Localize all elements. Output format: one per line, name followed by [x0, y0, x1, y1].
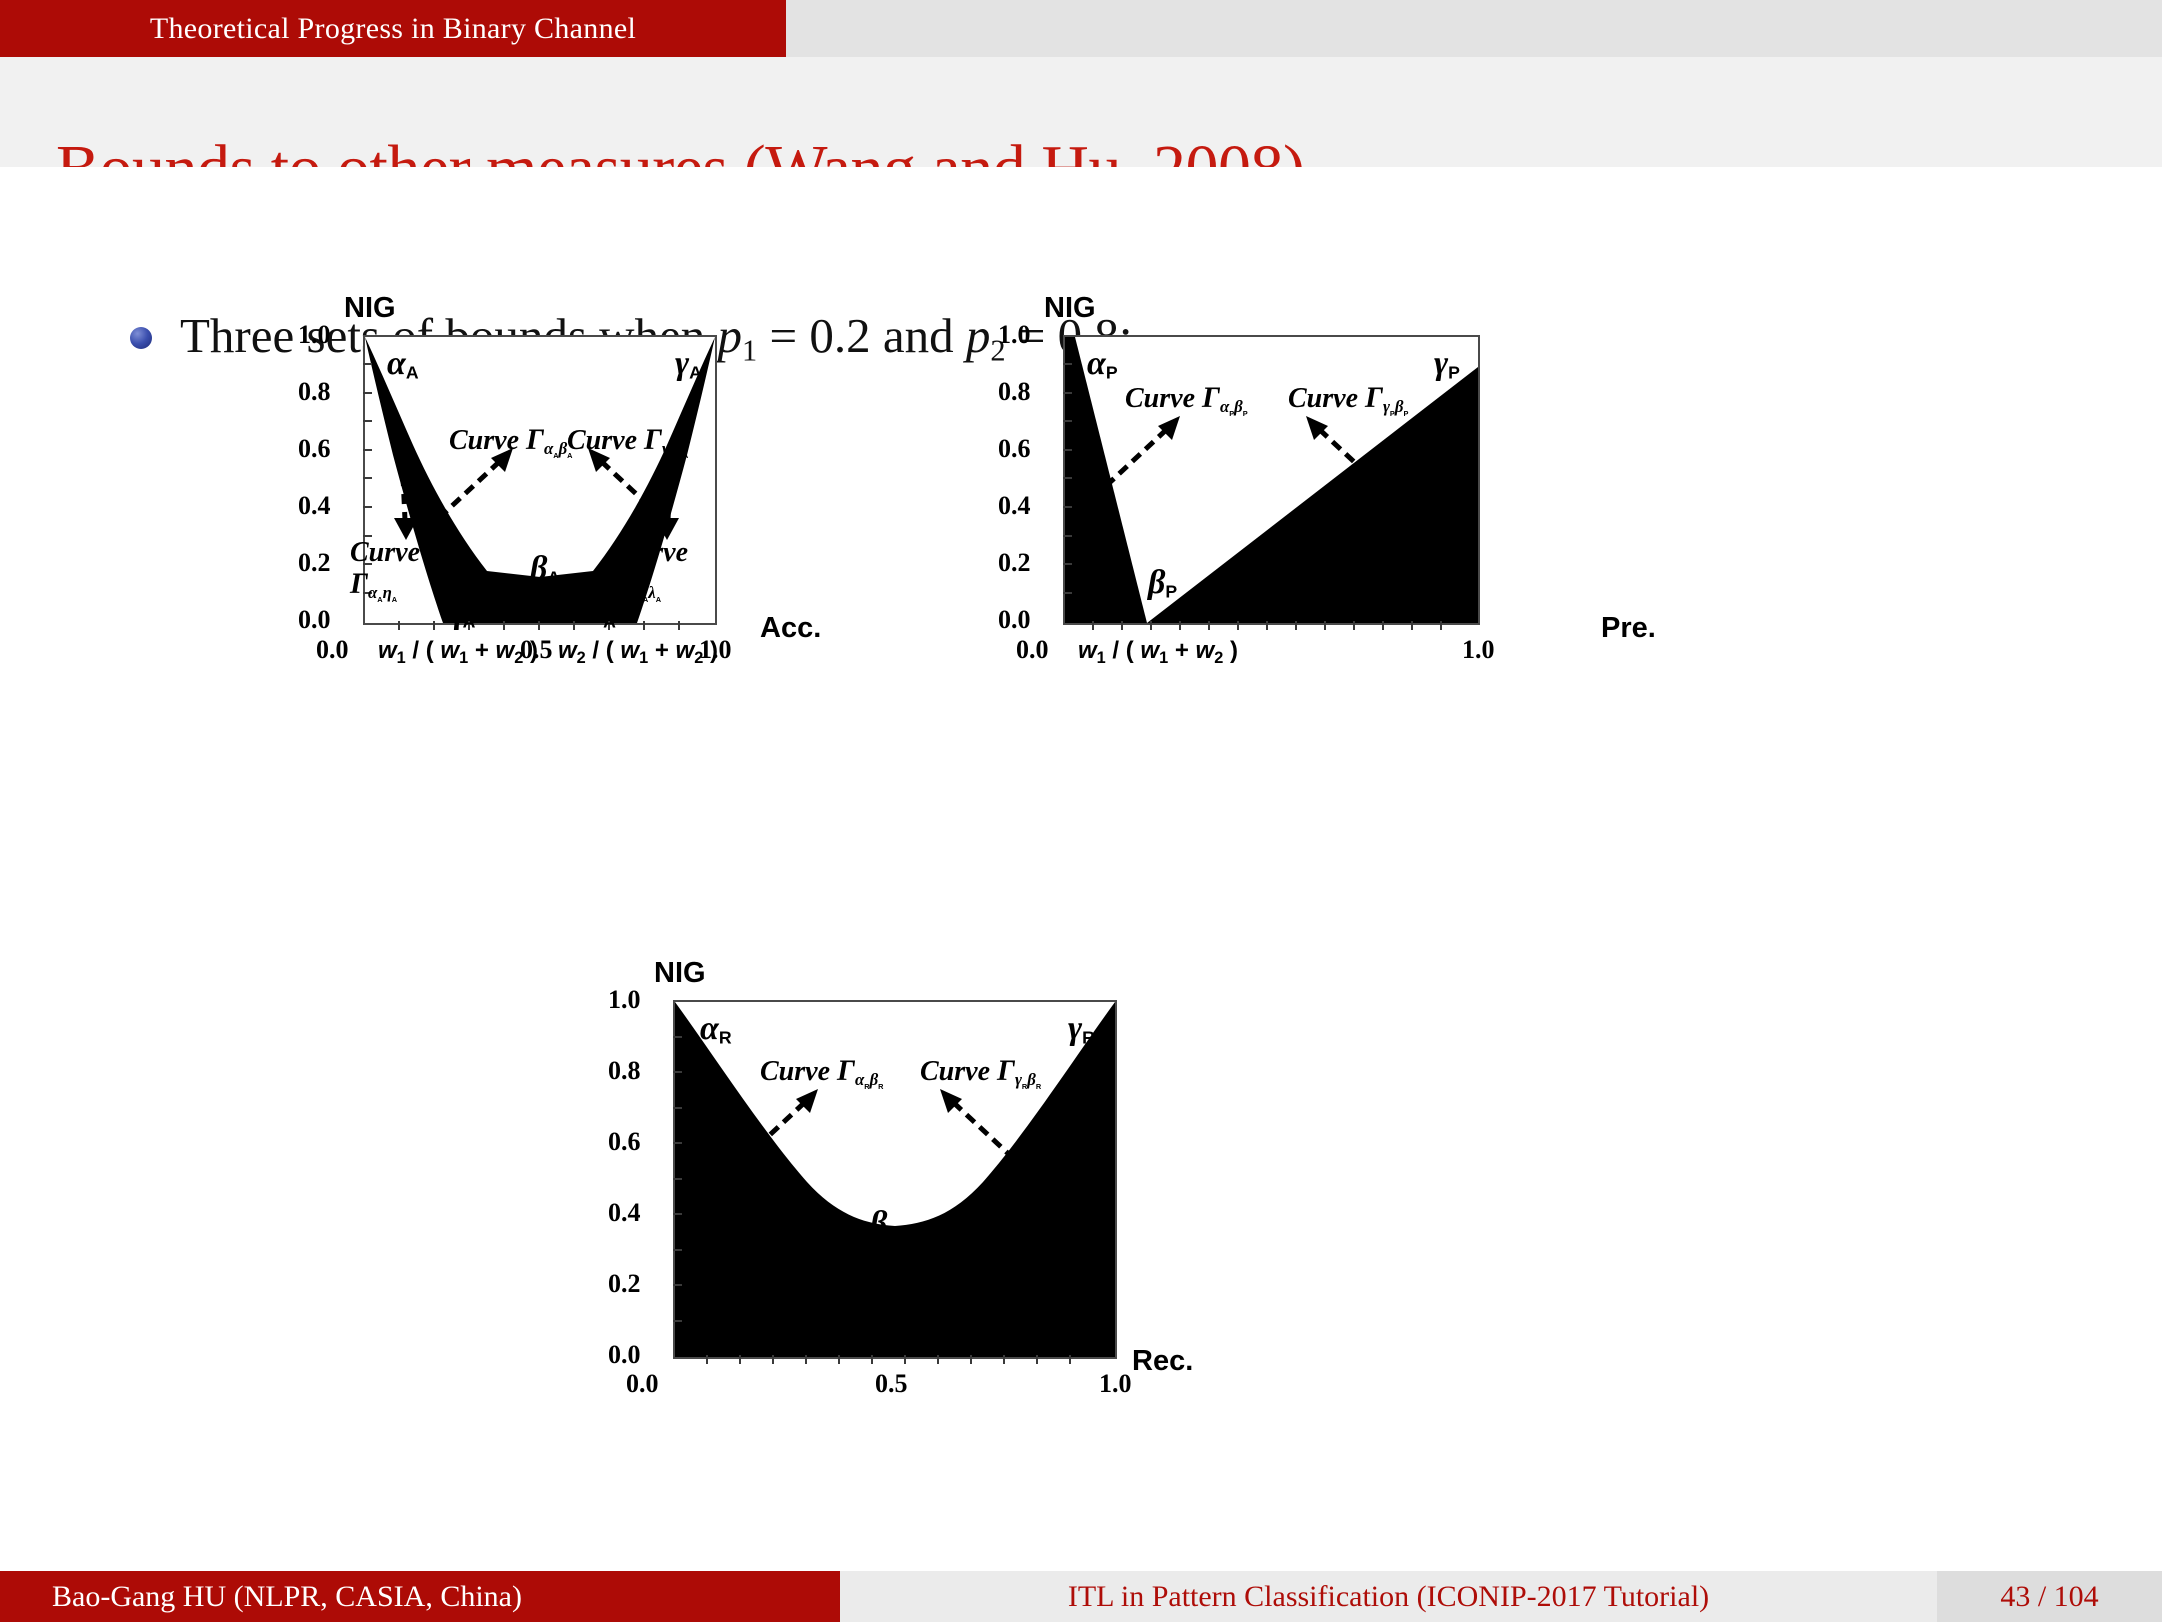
figure-recall-ytick-6: 0.0 [608, 1340, 641, 1370]
section-tab[interactable]: Theoretical Progress in Binary Channel [0, 0, 786, 57]
tick [673, 1213, 682, 1215]
footer-course-block: ITL in Pattern Classification (ICONIP-20… [840, 1571, 1937, 1622]
figure-precision-arrow-ab [1102, 410, 1192, 490]
figure-recall-ytick-3: 0.6 [608, 1127, 641, 1157]
figure-precision-ytick-1: 1.0 [998, 320, 1031, 350]
bullet-dot-icon [130, 327, 152, 349]
tick [1036, 1355, 1038, 1364]
figure-precision-ytick-5: 0.2 [998, 548, 1031, 578]
figure-precision-xfrac-left: w1 / ( w1 + w2 ) [1078, 637, 1238, 668]
figure-precision-ytick-3: 0.6 [998, 434, 1031, 464]
figure-accuracy-xtick-1: 0.0 [316, 635, 349, 665]
figure-accuracy-arrow-gl [648, 474, 688, 544]
tick [538, 621, 540, 630]
tick [673, 1142, 682, 1144]
tick [398, 621, 400, 630]
tick [1063, 563, 1072, 565]
tick [1411, 621, 1413, 630]
footer-author-block: Bao-Gang HU (NLPR, CASIA, China) [0, 1571, 840, 1622]
tick [805, 1355, 807, 1364]
figure-accuracy-ylabel: NIG [344, 292, 396, 325]
tick [1063, 592, 1072, 594]
figure-recall-fill [675, 1002, 1115, 1357]
figure-accuracy-ytick-4: 0.4 [298, 491, 331, 521]
figure-recall-xtick-1: 0.0 [626, 1369, 659, 1399]
tick [363, 392, 372, 394]
tick [1266, 621, 1268, 630]
figure-accuracy: NIG 1.0 0.8 0.6 0.4 0.2 0.0 [330, 292, 1050, 692]
tick [1295, 621, 1297, 630]
tick [673, 1284, 682, 1286]
figure-recall-ytick-4: 0.4 [608, 1198, 641, 1228]
figure-accuracy-curve-ae-label: CurveΓαAηA [350, 538, 420, 604]
tick [1092, 621, 1094, 630]
tick [1063, 363, 1072, 365]
tick [363, 363, 372, 365]
figure-precision-xlabel: Pre. [1601, 612, 1656, 645]
tick [363, 477, 372, 479]
figure-recall-ytick-5: 0.2 [608, 1269, 641, 1299]
tick [1382, 621, 1384, 630]
figure-accuracy-alpha-label: αA [387, 345, 419, 383]
tick [1063, 477, 1072, 479]
footer-course: ITL in Pattern Classification (ICONIP-20… [1068, 1580, 1709, 1614]
figure-precision-arrow-gb [1294, 410, 1384, 490]
tick [433, 621, 435, 630]
title-band: Bounds to other measures (Wang and Hu, 2… [0, 57, 2162, 167]
tick [673, 1036, 682, 1038]
tick [706, 1355, 708, 1364]
section-tab-label: Theoretical Progress in Binary Channel [150, 12, 636, 46]
tick [1063, 449, 1072, 451]
tick [643, 621, 645, 630]
tick [772, 1355, 774, 1364]
figure-recall-alpha-label: αR [700, 1010, 732, 1048]
figure-accuracy-arrow-ab [435, 442, 525, 522]
figure-accuracy-ytick-1: 1.0 [298, 320, 331, 350]
tick [363, 449, 372, 451]
figure-precision-xtick-2: 1.0 [1462, 635, 1495, 665]
tick [1237, 621, 1239, 630]
tick [1063, 420, 1072, 422]
footer-page-number: 43 / 104 [2000, 1580, 2098, 1614]
figure-precision-alpha-label: αP [1087, 345, 1118, 383]
slide-body: Three sets of bounds when p1 = 0.2 and p… [0, 167, 2162, 1555]
figure-recall-arrow-gb [928, 1083, 1018, 1163]
header-bar: Theoretical Progress in Binary Channel [0, 0, 2162, 57]
figure-accuracy-beta-label: βA [530, 550, 560, 588]
figure-accuracy-ytick-5: 0.2 [298, 548, 331, 578]
figure-accuracy-ytick-2: 0.8 [298, 377, 331, 407]
figure-accuracy-arrow-ae [385, 474, 425, 544]
figure-precision-ytick-2: 0.8 [998, 377, 1031, 407]
figure-precision: NIG 1.0 0.8 0.6 0.4 0.2 0.0 [1030, 292, 1750, 692]
tick [363, 506, 372, 508]
figure-recall-plot [673, 1000, 1117, 1359]
figure-accuracy-xlabel: Acc. [760, 612, 821, 645]
figure-accuracy-curve-gl-label: CurveΓγAλA [618, 538, 688, 604]
tick [1324, 621, 1326, 630]
tick [904, 1355, 906, 1364]
figure-precision-beta-label: βP [1148, 564, 1177, 602]
tick [673, 1071, 682, 1073]
tick [1179, 621, 1181, 630]
tick [1063, 392, 1072, 394]
footer-page-block: 43 / 104 [1937, 1571, 2162, 1622]
figure-recall-xtick-3: 1.0 [1099, 1369, 1132, 1399]
figure-accuracy-xfrac-left: w1 / ( w1 + w2 ) [378, 637, 538, 668]
figure-recall-beta-label: βR [870, 1205, 900, 1243]
tick [1440, 621, 1442, 630]
tick [1208, 621, 1210, 630]
tick [838, 1355, 840, 1364]
figure-accuracy-gamma-label: γA [675, 345, 702, 383]
figure-precision-ytick-6: 0.0 [998, 605, 1031, 635]
tick [739, 1355, 741, 1364]
figure-accuracy-lambda-label: λA [588, 594, 616, 632]
figure-recall-xlabel: Rec. [1132, 1345, 1193, 1378]
tick [1003, 1355, 1005, 1364]
tick [871, 1355, 873, 1364]
figure-recall-gamma-label: γR [1068, 1010, 1095, 1048]
figure-accuracy-eta-label: ηA [444, 594, 475, 632]
tick [573, 621, 575, 630]
tick [503, 621, 505, 630]
tick [1069, 1355, 1071, 1364]
figure-accuracy-xfrac-right: w2 / ( w1 + w2 ) [558, 637, 718, 668]
figure-recall-arrow-ab [740, 1083, 830, 1163]
figure-precision-gamma-label: γP [1434, 345, 1460, 383]
footer-bar: Bao-Gang HU (NLPR, CASIA, China) ITL in … [0, 1571, 2162, 1622]
tick [1121, 621, 1123, 630]
figure-recall-ytick-1: 1.0 [608, 985, 641, 1015]
figure-accuracy-ytick-3: 0.6 [298, 434, 331, 464]
tick [1063, 506, 1072, 508]
figure-precision-xtick-1: 0.0 [1016, 635, 1049, 665]
tick [937, 1355, 939, 1364]
tick [673, 1178, 682, 1180]
tick [678, 621, 680, 630]
figure-recall-ytick-2: 0.8 [608, 1056, 641, 1086]
tick [1353, 621, 1355, 630]
figure-recall: NIG 1.0 0.8 0.6 0.4 0.2 0.0 [640, 957, 1400, 1357]
tick [363, 420, 372, 422]
tick [673, 1320, 682, 1322]
tick [673, 1107, 682, 1109]
figure-accuracy-ytick-6: 0.0 [298, 605, 331, 635]
figure-precision-ytick-4: 0.4 [998, 491, 1031, 521]
figure-recall-xtick-2: 0.5 [875, 1369, 908, 1399]
tick [673, 1249, 682, 1251]
tick [1150, 621, 1152, 630]
figure-precision-ylabel: NIG [1044, 292, 1096, 325]
tick [970, 1355, 972, 1364]
figure-recall-ylabel: NIG [654, 957, 706, 990]
footer-author: Bao-Gang HU (NLPR, CASIA, China) [52, 1580, 522, 1614]
tick [1063, 535, 1072, 537]
